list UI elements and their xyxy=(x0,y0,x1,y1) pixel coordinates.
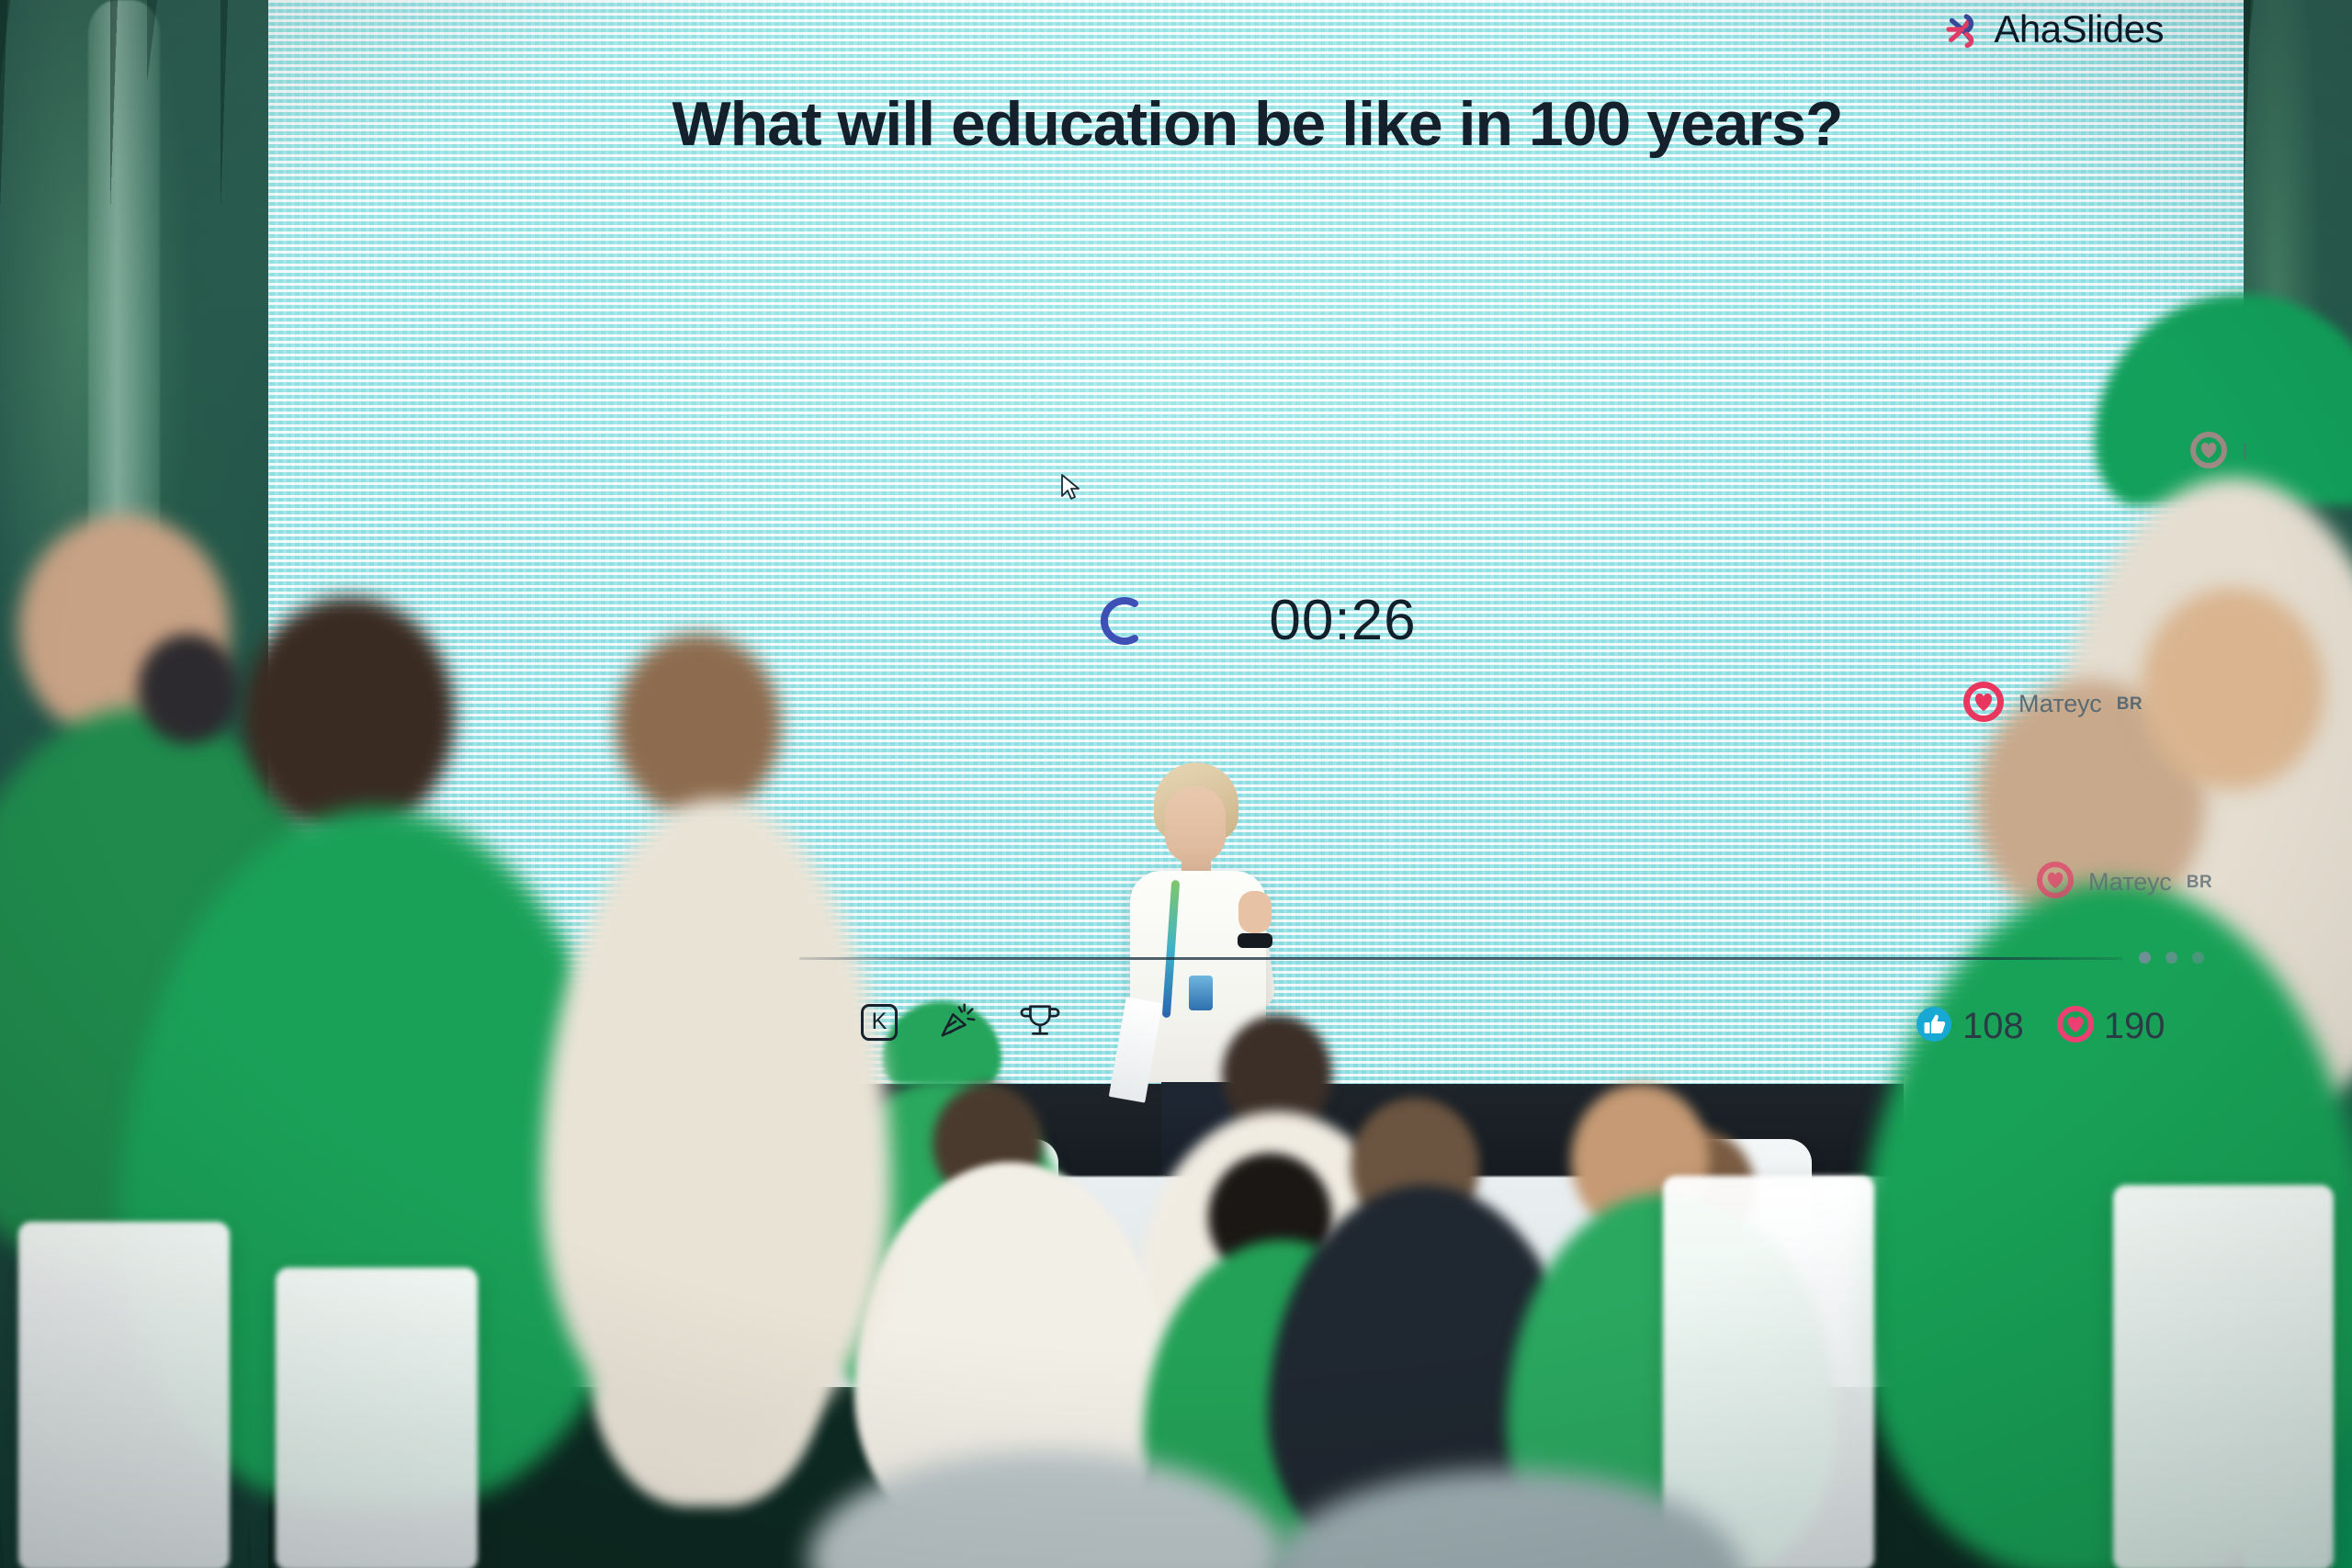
page-title: What will education be like in 100 years… xyxy=(268,88,2246,160)
heart-icon xyxy=(2037,862,2074,903)
pagination-dot[interactable] xyxy=(2165,952,2177,964)
reaction-user-tag: BR xyxy=(2187,873,2212,893)
chair xyxy=(276,1268,478,1568)
presentation-slide: AhaSlides What will education be like in… xyxy=(268,0,2246,1084)
party-popper-icon[interactable] xyxy=(938,999,978,1044)
thumbs-up-counter[interactable]: 108 xyxy=(1916,1006,2024,1047)
pagination-dot[interactable] xyxy=(2139,952,2151,964)
reaction-toast: Матеус BR xyxy=(1963,682,2143,727)
ahaslides-asterisk-icon xyxy=(1942,10,1981,49)
heart-count: 190 xyxy=(2104,1006,2165,1047)
chair xyxy=(1663,1176,1874,1568)
chair xyxy=(18,1222,230,1568)
timer-row: 00:26 xyxy=(268,588,2246,653)
reaction-user-name: Матеус xyxy=(2088,868,2172,897)
audience-camera xyxy=(138,634,239,744)
reaction-counters: 108 190 xyxy=(1916,1006,2165,1047)
heart-counter[interactable]: 190 xyxy=(2057,1006,2165,1047)
reaction-user-name: Матеус xyxy=(2018,690,2102,718)
screenshot-root: AhaSlides What will education be like in… xyxy=(0,0,2352,1568)
countdown-timer: 00:26 xyxy=(1269,588,1416,653)
slide-toolbar: K xyxy=(861,999,1061,1044)
keyboard-key-k-icon[interactable]: K xyxy=(861,1004,898,1041)
led-screen: AhaSlides What will education be like in… xyxy=(268,0,2246,1084)
heart-icon xyxy=(1963,682,2004,727)
reaction-toast: Матеус BR xyxy=(2190,432,2246,473)
trophy-icon[interactable] xyxy=(1019,999,1061,1044)
thumbs-up-icon xyxy=(1916,1006,1952,1047)
brand-name: AhaSlides xyxy=(1994,7,2164,51)
slide-divider xyxy=(799,957,2122,960)
mouse-pointer-icon xyxy=(1060,474,1080,502)
ahaslides-logo: AhaSlides xyxy=(1942,7,2164,51)
reaction-user-name: Матеус xyxy=(2242,438,2246,467)
heart-icon xyxy=(2057,1006,2094,1047)
loading-spinner-icon xyxy=(1098,595,1149,647)
reaction-user-tag: BR xyxy=(2117,694,2143,715)
pagination-dots[interactable] xyxy=(2139,952,2204,964)
thumbs-up-count: 108 xyxy=(1962,1006,2024,1047)
pagination-dot[interactable] xyxy=(2192,952,2204,964)
chair xyxy=(2113,1185,2334,1568)
reaction-toast: Матеус BR xyxy=(2037,862,2212,903)
heart-icon xyxy=(2190,432,2227,473)
